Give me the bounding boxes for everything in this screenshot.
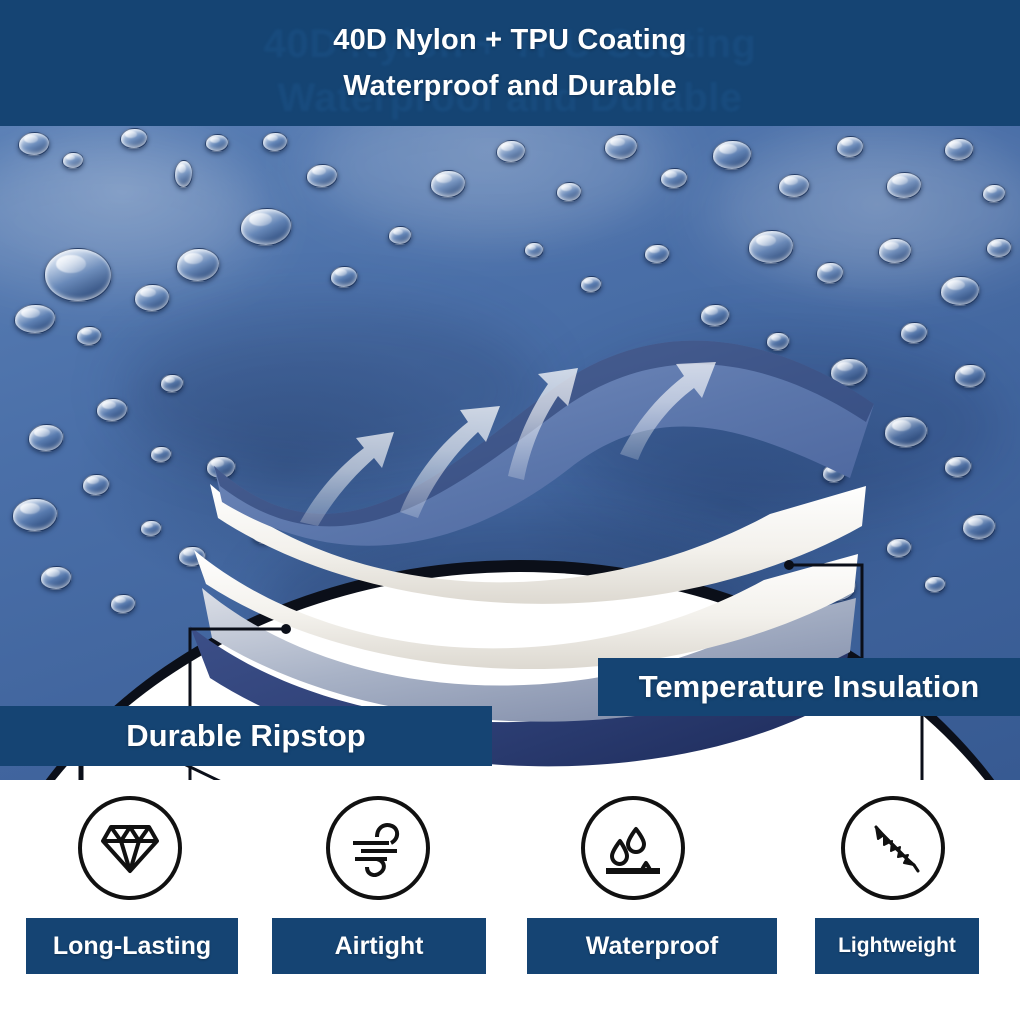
water-drop-surface-icon <box>581 796 685 900</box>
infographic-root: 40D Nylon + TPU Coating Waterproof and D… <box>0 0 1020 1020</box>
feature-label-airtight-text: Airtight <box>335 932 424 961</box>
callout-label-temperature-insulation-text: Temperature Insulation <box>639 669 980 705</box>
feature-label-long-lasting-text: Long-Lasting <box>53 932 211 961</box>
header-title-group: 40D Nylon + TPU Coating Waterproof and D… <box>0 0 1020 126</box>
callout-label-durable-ripstop: Durable Ripstop <box>0 706 492 766</box>
feature-airtight: Airtight <box>250 780 505 1020</box>
feature-label-airtight: Airtight <box>272 918 486 974</box>
diamond-icon <box>78 796 182 900</box>
feature-lightweight: Lightweight <box>765 780 1020 1020</box>
header-banner: 40D Nylon + TPU Coating Waterproof and D… <box>0 0 1020 126</box>
feature-long-lasting: Long-Lasting <box>2 780 257 1020</box>
feature-icons-row: Long-Lasting Airtight <box>0 780 1020 1020</box>
feather-icon <box>841 796 945 900</box>
header-title-line1: 40D Nylon + TPU Coating <box>333 19 686 61</box>
feature-waterproof: Waterproof <box>505 780 760 1020</box>
callout-label-durable-ripstop-text: Durable Ripstop <box>126 718 365 754</box>
feature-label-lightweight: Lightweight <box>815 918 979 974</box>
feature-label-lightweight-text: Lightweight <box>838 934 956 958</box>
header-title-line2: Waterproof and Durable <box>343 65 677 107</box>
wind-icon <box>326 796 430 900</box>
feature-label-waterproof: Waterproof <box>527 918 777 974</box>
feature-label-waterproof-text: Waterproof <box>586 932 718 961</box>
feature-label-long-lasting: Long-Lasting <box>26 918 238 974</box>
callout-label-temperature-insulation: Temperature Insulation <box>598 658 1020 716</box>
